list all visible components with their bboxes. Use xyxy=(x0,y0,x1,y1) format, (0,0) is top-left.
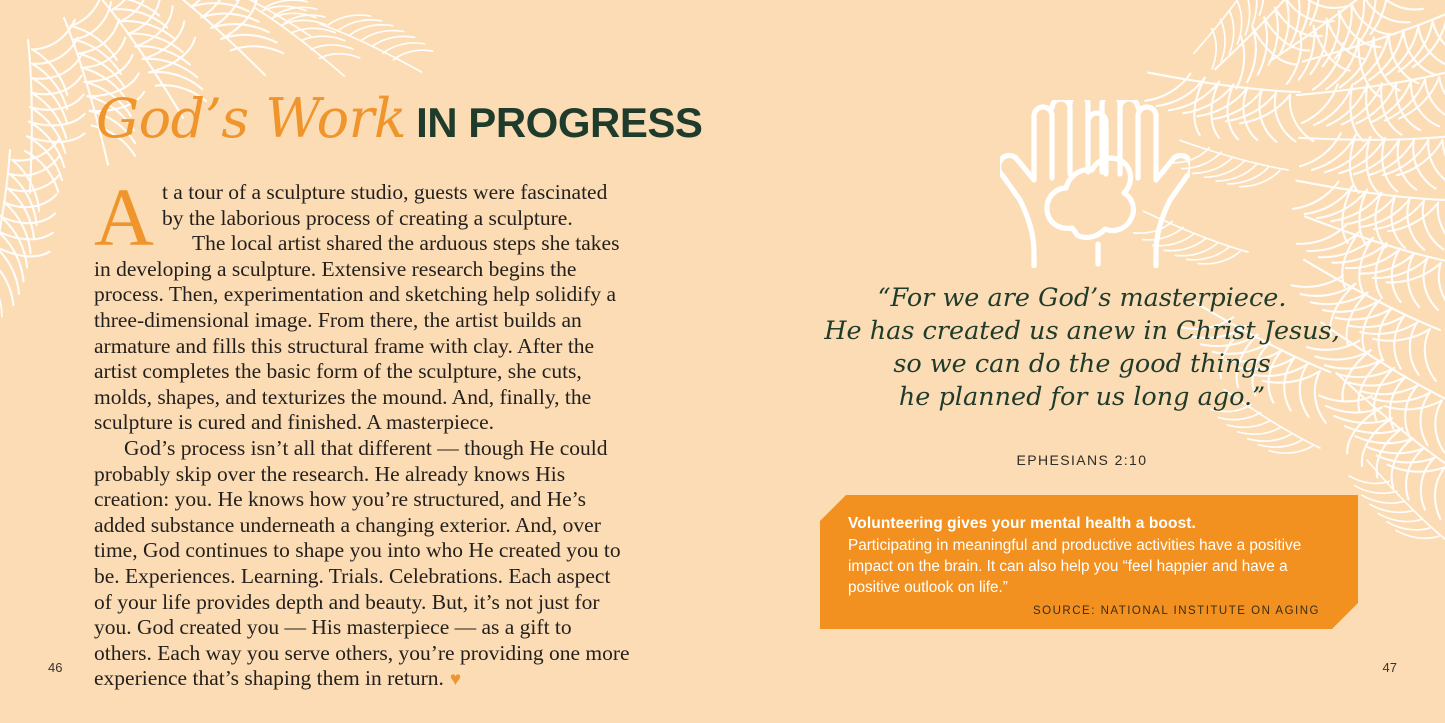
callout-body-text: Participating in meaningful and producti… xyxy=(848,535,1332,598)
paragraph-3: God’s process isn’t all that different —… xyxy=(94,436,630,693)
verse-line-1: “For we are God’s masterpiece. xyxy=(822,282,1342,315)
callout-headline: Volunteering gives your mental health a … xyxy=(848,513,1332,534)
verse-line-4: he planned for us long ago.” xyxy=(822,381,1342,414)
heart-icon: ♥ xyxy=(444,669,461,690)
page-title: God’s WorkIN PROGRESS xyxy=(96,92,702,146)
paragraph-3-text: God’s process isn’t all that different —… xyxy=(94,436,630,690)
page-title-script: God’s Work xyxy=(96,87,406,150)
callout-source: SOURCE: NATIONAL INSTITUTE ON AGING xyxy=(848,605,1332,617)
drop-cap: A xyxy=(94,180,160,249)
paragraph-2: The local artist shared the arduous step… xyxy=(94,231,630,436)
right-page: “For we are God’s masterpiece. He has cr… xyxy=(722,0,1445,723)
verse-line-2: He has created us anew in Christ Jesus, xyxy=(822,315,1342,348)
paragraph-1-text: t a tour of a sculpture studio, guests w… xyxy=(162,180,607,230)
left-page: God’s WorkIN PROGRESS At a tour of a scu… xyxy=(0,0,722,723)
scripture-quote: “For we are God’s masterpiece. He has cr… xyxy=(822,282,1342,414)
page-title-bold: IN PROGRESS xyxy=(416,99,702,146)
article-body: At a tour of a sculpture studio, guests … xyxy=(94,180,630,693)
fact-callout-box: Volunteering gives your mental health a … xyxy=(820,495,1358,629)
page-number-right: 47 xyxy=(1383,660,1397,675)
page-number-left: 46 xyxy=(48,660,62,675)
scripture-reference: EPHESIANS 2:10 xyxy=(822,452,1342,468)
hands-holding-heart-icon xyxy=(1000,100,1190,268)
paragraph-1: At a tour of a sculpture studio, guests … xyxy=(94,180,630,231)
verse-line-3: so we can do the good things xyxy=(822,348,1342,381)
book-spread: God’s WorkIN PROGRESS At a tour of a scu… xyxy=(0,0,1445,723)
